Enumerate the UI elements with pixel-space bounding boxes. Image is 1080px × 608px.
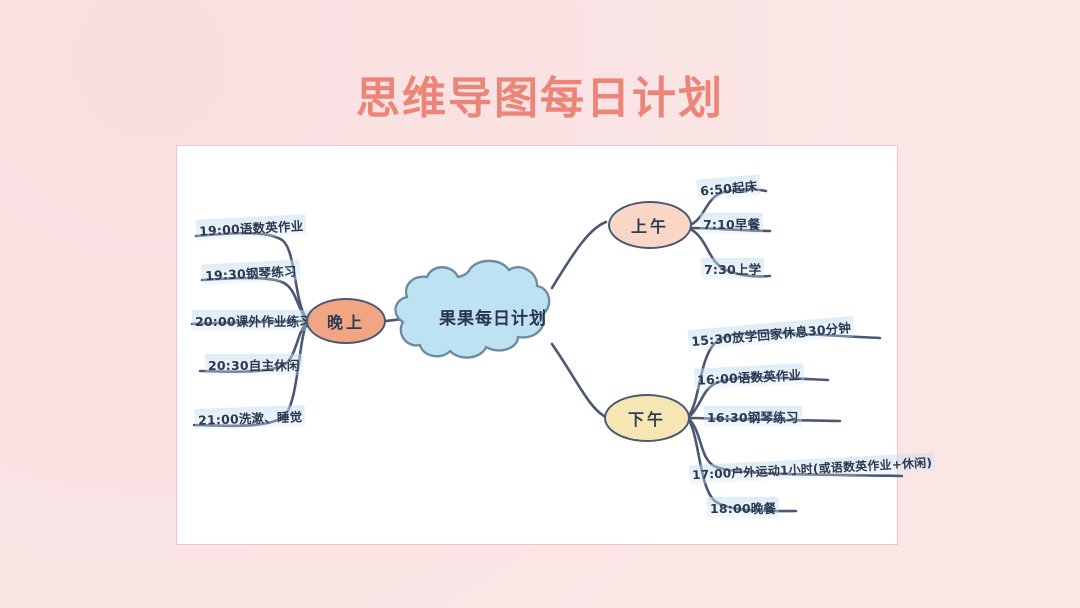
leaf-morning-3[interactable]: 7:30上学: [701, 258, 764, 279]
branch-label-morning: 上午: [631, 213, 669, 237]
branch-node-morning[interactable]: 上午: [608, 201, 692, 249]
branch-label-evening: 晚上: [327, 309, 365, 333]
slide-canvas: 思维导图每日计划: [0, 0, 1080, 608]
leaf-evening-4[interactable]: 20:30自主休闲: [205, 354, 303, 375]
mindmap-center-node[interactable]: 果果每日计划: [417, 275, 569, 357]
leaf-evening-3[interactable]: 20:00课外作业练习: [192, 310, 315, 331]
leaf-morning-2[interactable]: 7:10早餐: [700, 213, 763, 234]
branch-label-afternoon: 下午: [628, 406, 666, 430]
leaf-afternoon-5[interactable]: 18:00晚餐: [707, 497, 779, 518]
branch-node-afternoon[interactable]: 下午: [604, 394, 690, 442]
leaf-evening-5[interactable]: 21:00洗漱、睡觉: [195, 405, 306, 430]
leaf-afternoon-3[interactable]: 16:30钢琴练习: [704, 406, 802, 427]
branch-node-evening[interactable]: 晚上: [306, 298, 386, 344]
center-node-label: 果果每日计划: [439, 304, 547, 329]
